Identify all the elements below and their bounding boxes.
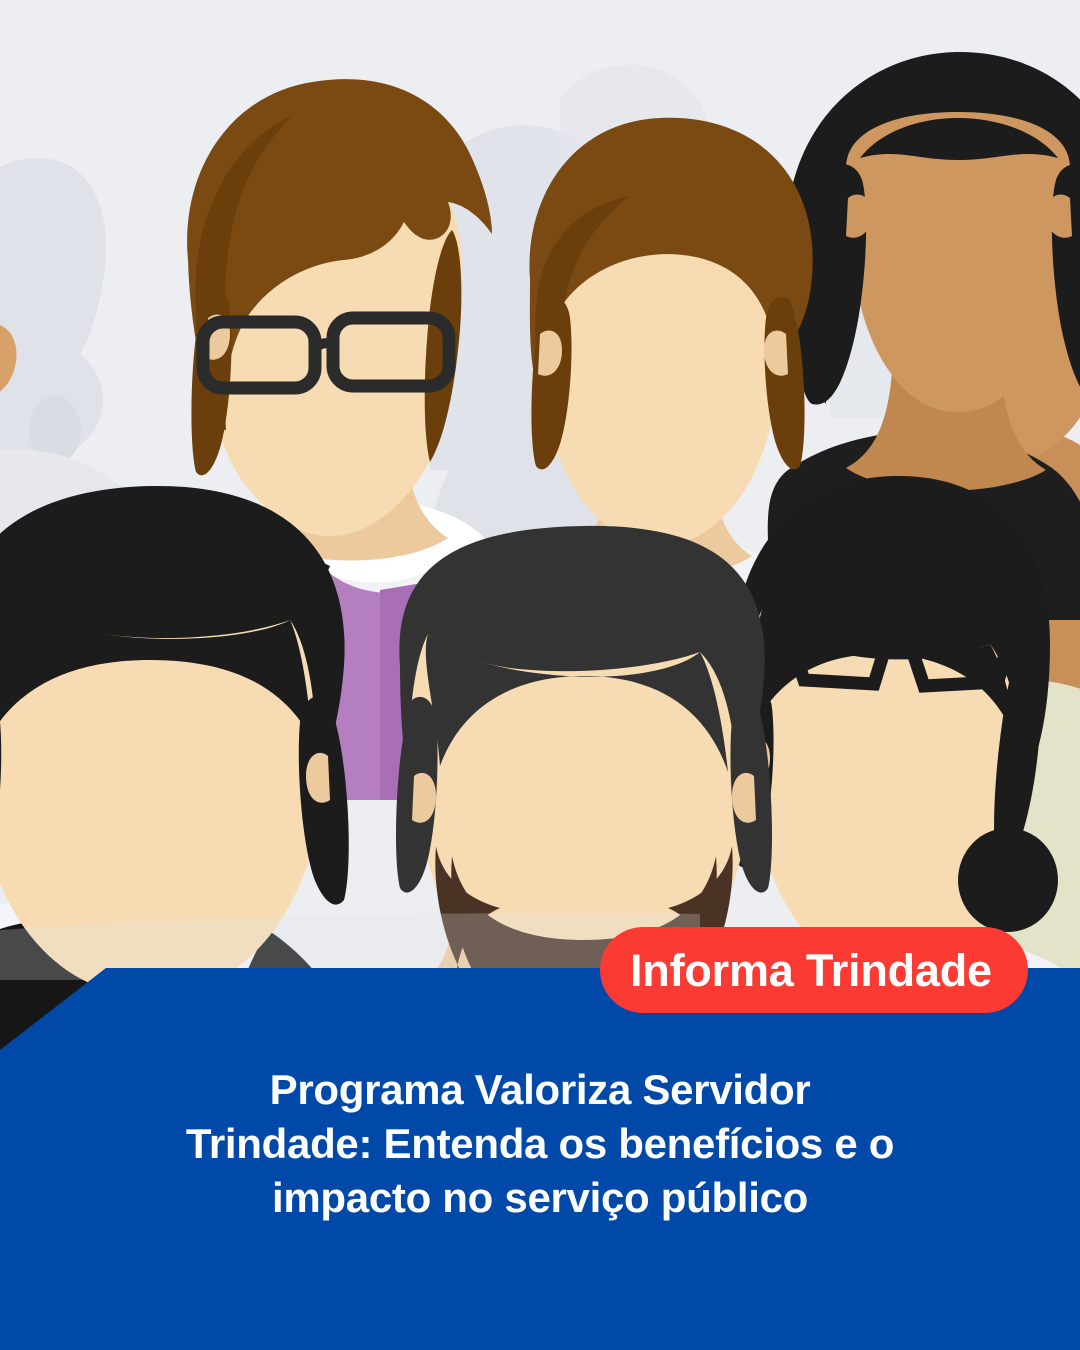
social-media-post-card: Informa Trindade Programa Valoriza Servi… [0,0,1080,1350]
informa-trindade-badge[interactable]: Informa Trindade [600,927,1028,1013]
headline: Programa Valoriza Servidor Trindade: Ent… [110,1063,970,1224]
headline-line-2: Trindade: Entenda os benefícios e o [110,1117,970,1171]
badge-label: Informa Trindade [630,948,992,993]
headline-line-3: impacto no serviço público [110,1171,970,1225]
hair-bun [958,828,1058,932]
headline-line-1: Programa Valoriza Servidor [110,1063,970,1117]
